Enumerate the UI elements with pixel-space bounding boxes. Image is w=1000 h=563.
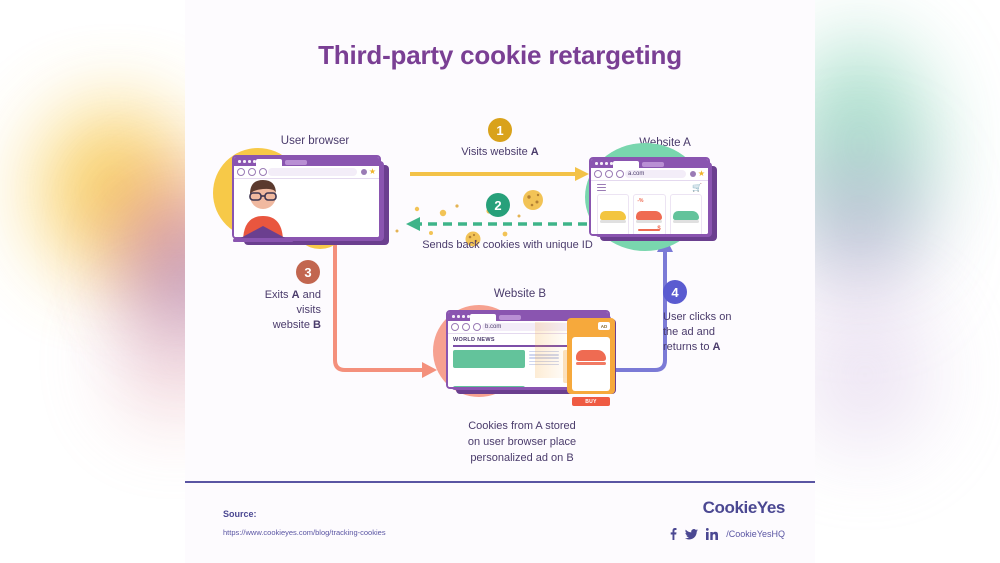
user-browser-title: User browser — [245, 135, 385, 147]
arrow-layer — [185, 0, 815, 563]
ad-badge: AD — [598, 322, 610, 330]
website-a-toolbar: 🛒 — [591, 181, 708, 194]
discount-badge: -% — [637, 198, 643, 204]
logo-text-cookie: Cookie — [703, 498, 757, 517]
step-badge-3: 3 — [296, 260, 320, 284]
step-2-label: Sends back cookies with unique ID — [390, 238, 625, 253]
source-url[interactable]: https://www.cookieyes.com/blog/tracking-… — [223, 528, 386, 537]
product-card[interactable]: -% $ — [633, 194, 665, 236]
source-label: Source: — [223, 509, 257, 519]
social-links: /CookieYesHQ — [670, 528, 785, 540]
caption-line-1: Cookies from A stored — [407, 418, 637, 434]
caption-line-3: personalized ad on B — [407, 450, 637, 466]
product-card[interactable] — [597, 194, 629, 236]
website-b-url: b.com — [485, 324, 501, 330]
star-icon[interactable]: ★ — [698, 170, 705, 178]
website-a-product-list: -% $ — [591, 194, 708, 236]
buy-button[interactable]: BUY — [572, 397, 610, 406]
step-4-line2: the ad and — [663, 325, 783, 340]
arrow-step-3 — [335, 240, 437, 378]
background-blob-purple-right — [800, 150, 920, 300]
browser-urlbar[interactable]: a.com ★ — [591, 168, 708, 181]
step-1-bold: A — [531, 146, 539, 158]
website-a-viewport: 🛒 -% $ — [591, 181, 708, 236]
url-field[interactable]: a.com — [625, 170, 686, 178]
step-3-label: Exits A and visits website B — [195, 288, 321, 333]
price-tag: $ — [657, 226, 660, 232]
gear-icon[interactable] — [361, 169, 367, 175]
news-image-block — [453, 386, 525, 389]
ad-product-card — [572, 337, 610, 391]
caption-line-2: on user browser place — [407, 434, 637, 450]
browser-tabbar — [234, 157, 379, 166]
website-a-url: a.com — [628, 171, 644, 177]
website-a-front-window[interactable]: a.com ★ 🛒 -% $ — [589, 157, 710, 236]
step-badge-4: 4 — [663, 280, 687, 304]
background-blob-lilac — [800, 300, 930, 450]
yellow-sneaker-icon — [600, 211, 626, 220]
browser-urlbar[interactable]: ★ — [234, 166, 379, 179]
website-b-caption: Cookies from A stored on user browser pl… — [407, 418, 637, 466]
red-sneaker-icon — [636, 211, 662, 220]
twitter-icon[interactable] — [685, 529, 698, 540]
green-sneaker-icon — [673, 211, 699, 220]
cookieyes-logo[interactable]: CookieYes — [703, 498, 785, 518]
arrow-step-1 — [410, 167, 589, 181]
step-4-label: User clicks on the ad and returns to A — [663, 310, 783, 355]
step-1-text: Visits website — [461, 146, 531, 158]
news-image-block — [453, 350, 525, 368]
personalized-ad-popup[interactable]: AD BUY — [567, 318, 615, 394]
facebook-icon[interactable] — [670, 528, 677, 540]
ad-light-beam — [535, 322, 571, 378]
website-b-title: Website B — [435, 288, 605, 300]
browser-tabbar — [591, 159, 708, 168]
step-badge-1: 1 — [488, 118, 512, 142]
step-3-line3: website B — [195, 318, 321, 333]
url-field[interactable] — [268, 168, 357, 176]
step-1-label: Visits website A — [430, 145, 570, 160]
step-4-line1: User clicks on — [663, 310, 783, 325]
product-card[interactable] — [670, 194, 702, 236]
cart-icon[interactable]: 🛒 — [692, 184, 702, 192]
social-handle[interactable]: /CookieYesHQ — [726, 529, 785, 539]
background-blob-yellow — [40, 110, 190, 270]
arrow-step-2 — [406, 217, 587, 231]
star-icon[interactable]: ★ — [369, 168, 376, 176]
step-3-line2: visits — [195, 303, 321, 318]
step-3-line1: Exits A and — [195, 288, 321, 303]
linkedin-icon[interactable] — [706, 528, 718, 540]
footer-divider — [185, 481, 815, 483]
gear-icon[interactable] — [690, 171, 696, 177]
step-badge-2: 2 — [486, 193, 510, 217]
website-a-window[interactable]: a.com ★ 🛒 -% $ — [589, 157, 706, 237]
infographic-card: Third-party cookie retargeting — [185, 0, 815, 563]
website-b-label: Website B — [494, 288, 546, 300]
ad-sneaker-icon — [576, 350, 606, 361]
hamburger-menu-icon[interactable] — [597, 184, 606, 192]
logo-text-yes: Yes — [757, 498, 785, 517]
user-avatar-illustration — [223, 180, 301, 242]
step-4-line3: returns to A — [663, 340, 783, 355]
